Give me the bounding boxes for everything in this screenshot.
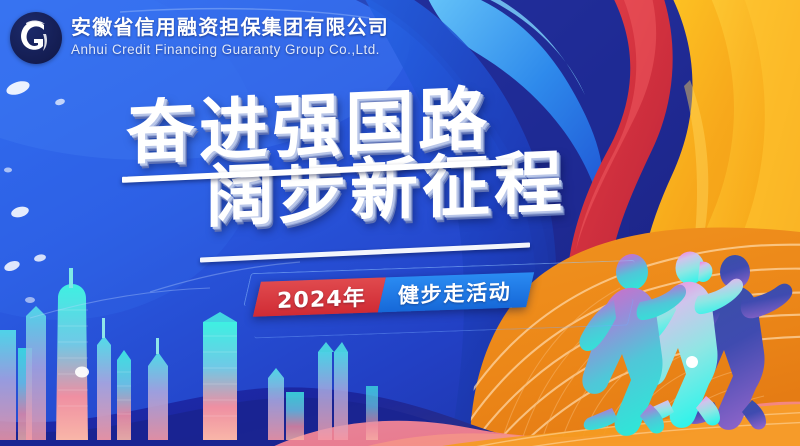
company-name-en: Anhui Credit Financing Guaranty Group Co… [71, 41, 389, 59]
event-year-chip: 2024年 [253, 277, 386, 316]
brand-text: 安徽省信用融资担保集团有限公司 Anhui Credit Financing G… [71, 17, 389, 59]
company-name-cn: 安徽省信用融资担保集团有限公司 [71, 17, 389, 39]
event-name-chip: 健步走活动 [378, 272, 534, 312]
company-logo-icon[interactable] [10, 12, 62, 64]
event-name-label: 健步走活动 [398, 276, 511, 310]
event-year-label: 2024年 [277, 280, 366, 315]
background-artwork [0, 0, 800, 446]
g-monogram-icon [10, 12, 62, 64]
poster-canvas: 安徽省信用融资担保集团有限公司 Anhui Credit Financing G… [0, 0, 800, 446]
brand-lockup[interactable]: 安徽省信用融资担保集团有限公司 Anhui Credit Financing G… [10, 12, 389, 64]
